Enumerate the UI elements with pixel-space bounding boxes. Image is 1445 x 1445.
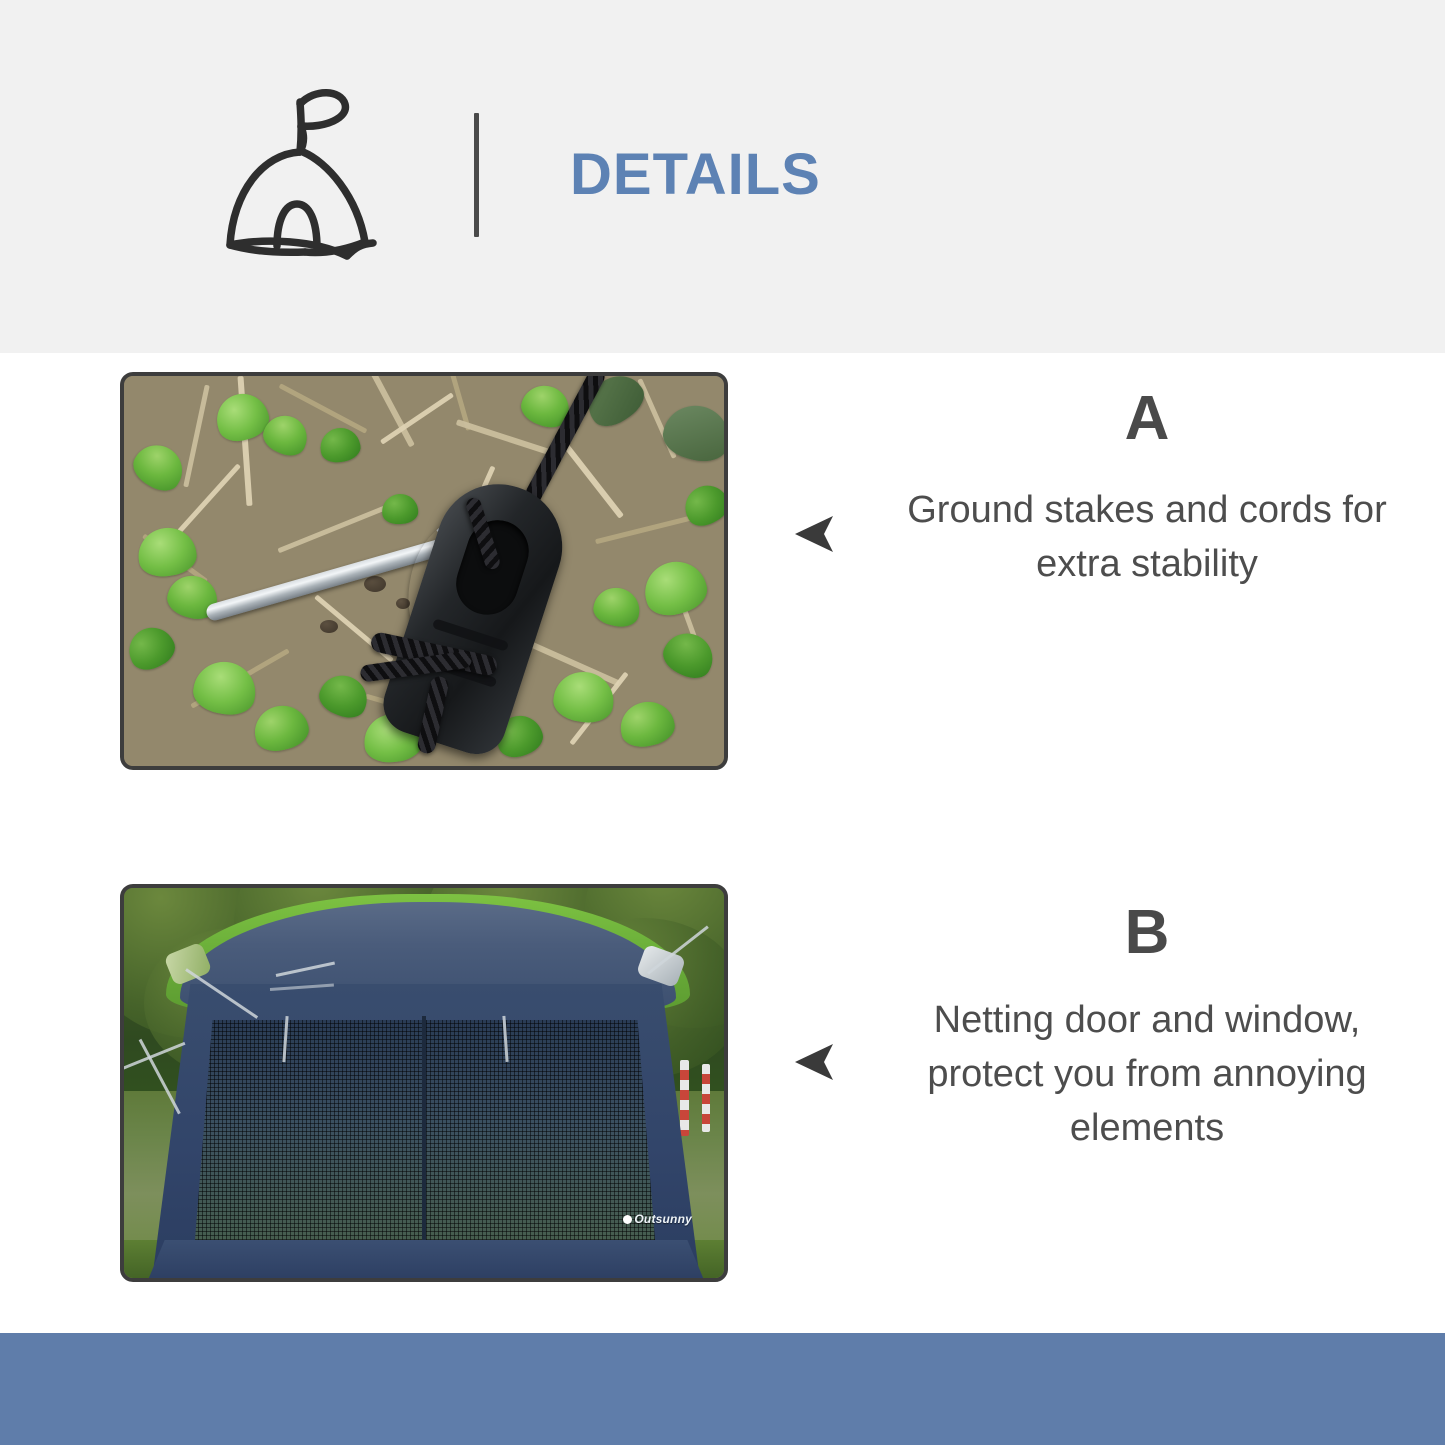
header-band: DETAILS: [0, 0, 1445, 353]
header-content: DETAILS: [205, 60, 821, 290]
brand-logo: Outsunny: [623, 1212, 692, 1226]
feature-callout-b: B Netting door and window, protect you f…: [793, 884, 1397, 1156]
page-title: DETAILS: [570, 146, 821, 204]
feature-callout-a: A Ground stakes and cords for extra stab…: [793, 372, 1397, 592]
screen-tent-photo: Outsunny: [120, 884, 728, 1282]
feature-description-a: Ground stakes and cords for extra stabil…: [897, 484, 1397, 592]
left-arrow-icon: [793, 1042, 837, 1082]
feature-row-b: Outsunny B Netting door and window, prot…: [0, 884, 1397, 1282]
feature-letter-a: A: [897, 388, 1397, 450]
feature-letter-b: B: [897, 902, 1397, 964]
brand-name: Outsunny: [634, 1212, 692, 1226]
header-divider: [474, 113, 479, 237]
sun-icon: [623, 1215, 632, 1224]
feature-row-a: A Ground stakes and cords for extra stab…: [0, 372, 1397, 770]
left-arrow-icon: [793, 514, 837, 554]
footer-bar: [0, 1333, 1445, 1445]
ground-stake-photo: [120, 372, 728, 770]
tent-with-flag-icon: [205, 80, 401, 270]
feature-description-b: Netting door and window, protect you fro…: [897, 994, 1397, 1156]
